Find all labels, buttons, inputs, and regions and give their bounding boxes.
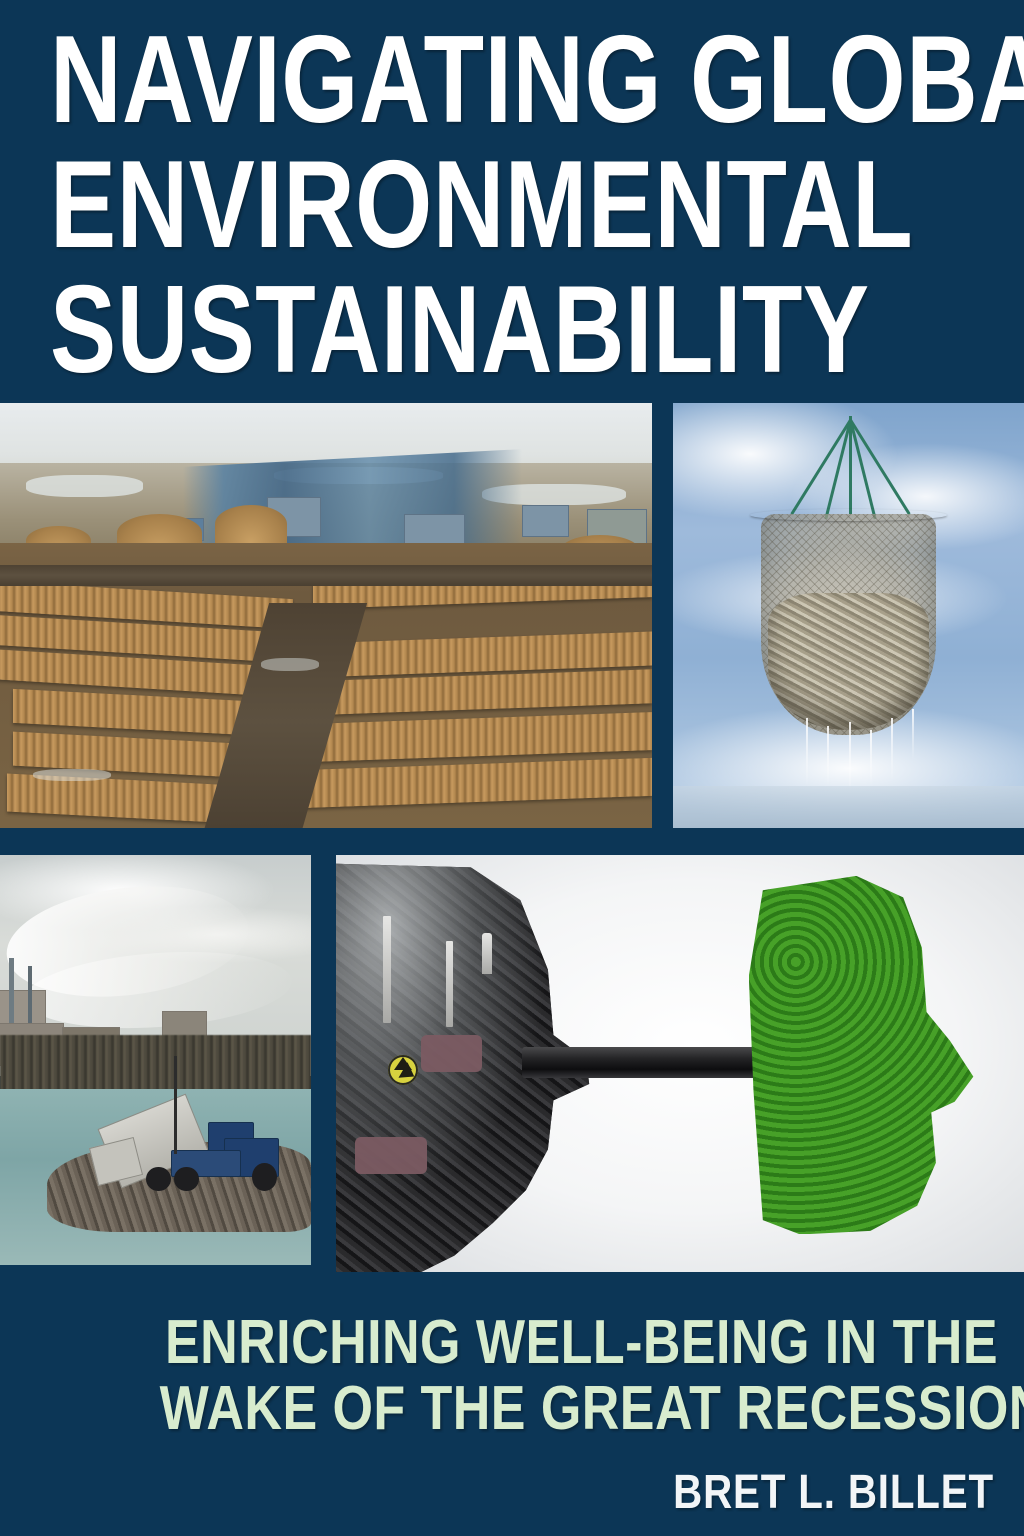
title-line-1: NAVIGATING GLOBAL [50, 18, 802, 143]
cover-image-dump-truck [0, 855, 311, 1265]
book-subtitle: ENRICHING WELL-BEING IN THE WAKE OF THE … [0, 1310, 998, 1442]
cover-image-fishing-net [673, 403, 1024, 828]
book-title: NAVIGATING GLOBAL ENVIRONMENTAL SUSTAINA… [50, 18, 990, 393]
subtitle-line-1: ENRICHING WELL-BEING IN THE [160, 1310, 998, 1376]
timber-mill-photo [0, 403, 652, 828]
radiation-hazard-icon [388, 1055, 418, 1085]
subtitle-line-2: WAKE OF THE GREAT RECESSION [160, 1376, 998, 1442]
two-heads-photo [336, 855, 1024, 1272]
cover-image-timber-mill [0, 403, 652, 828]
fishing-net-photo [673, 403, 1024, 828]
title-line-3: SUSTAINABILITY [50, 268, 802, 393]
book-cover: NAVIGATING GLOBAL ENVIRONMENTAL SUSTAINA… [0, 0, 1024, 1536]
title-line-2: ENVIRONMENTAL [50, 143, 802, 268]
cover-image-two-heads [336, 855, 1024, 1272]
author-name: BRET L. BILLET [673, 1468, 994, 1518]
dump-truck-photo [0, 855, 311, 1265]
